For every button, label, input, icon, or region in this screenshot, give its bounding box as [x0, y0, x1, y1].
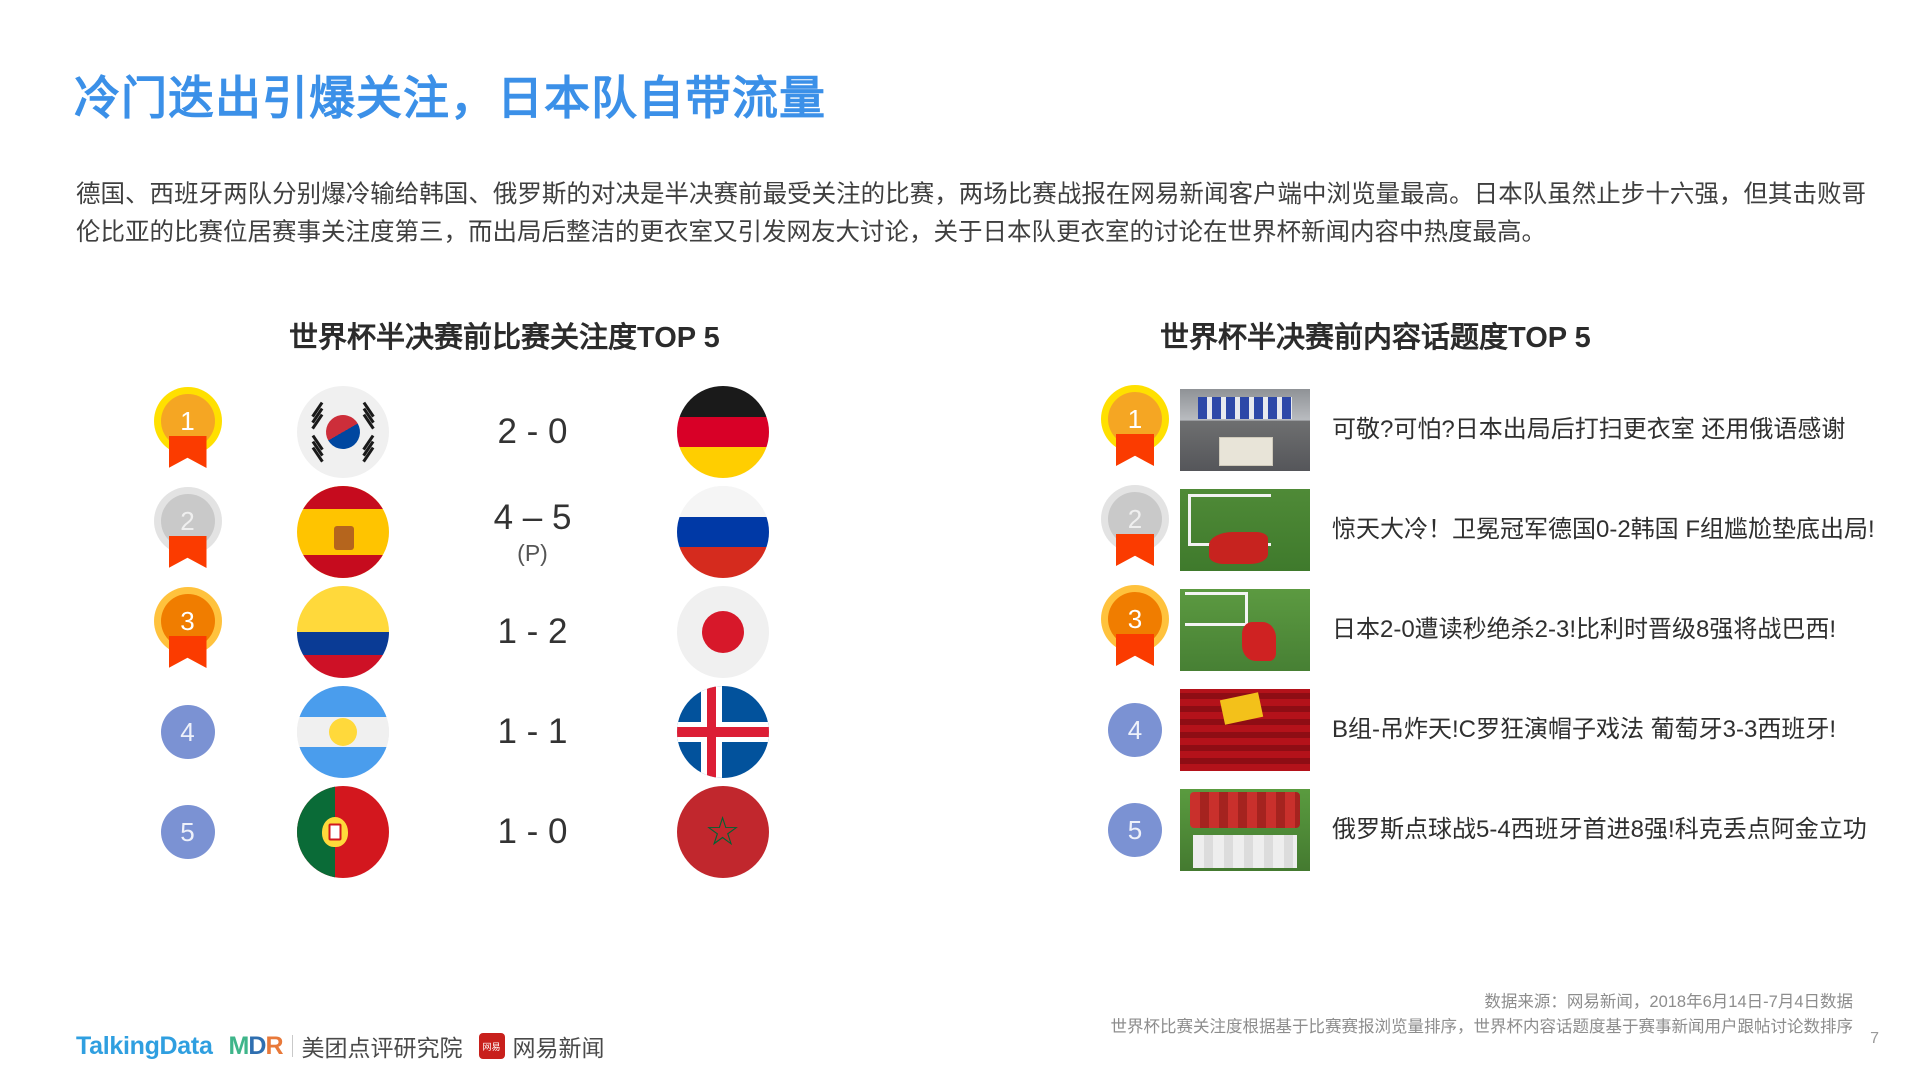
away-team-cell [635, 386, 810, 478]
match-score: 4 – 5(P) [430, 498, 635, 567]
source-line-1: 数据来源：网易新闻，2018年6月14日-7月4日数据 [1111, 990, 1854, 1015]
medal-ribbon-icon [169, 436, 207, 468]
match-rank-cell: 2 [120, 494, 255, 570]
match-row: 41 - 1 [120, 682, 920, 782]
right-column-heading: 世界杯半决赛前内容话题度TOP 5 [1160, 314, 1591, 356]
flag-germany-icon [677, 386, 769, 478]
flag-argentina-icon [297, 686, 389, 778]
slide-canvas: 冷门迭出引爆关注，日本队自带流量 德国、西班牙两队分别爆冷输给韩国、俄罗斯的对决… [0, 0, 1921, 1080]
news-rank-cell: 3 [1090, 592, 1180, 668]
news-medal-2: 2 [1108, 492, 1162, 568]
medal-ribbon-icon [1116, 534, 1154, 566]
mdr-logo: MDR 美团点评研究院 [229, 1029, 463, 1063]
news-medal-3: 3 [1108, 592, 1162, 668]
page-title: 冷门迭出引爆关注，日本队自带流量 [74, 62, 826, 128]
away-team-cell [635, 586, 810, 678]
home-team-cell [255, 586, 430, 678]
match-row: 51 - 0☆ [120, 782, 920, 882]
news-row[interactable]: 4B组-吊炸天!C罗狂演帽子戏法 葡萄牙3-3西班牙! [1090, 680, 1910, 780]
medal-ribbon-icon [1116, 434, 1154, 466]
netease-logo: 网易 网易新闻 [479, 1029, 605, 1063]
news-rank-4: 4 [1108, 703, 1162, 757]
talkingdata-logo: TalkingData [76, 1032, 213, 1061]
news-row[interactable]: 3日本2-0遭读秒绝杀2-3!比利时晋级8强将战巴西! [1090, 580, 1910, 680]
match-score: 1 - 0 [430, 812, 635, 852]
match-rank-cell: 4 [120, 705, 255, 759]
news-row[interactable]: 1可敬?可怕?日本出局后打扫更衣室 还用俄语感谢 [1090, 380, 1910, 480]
intro-paragraph: 德国、西班牙两队分别爆冷输给韩国、俄罗斯的对决是半决赛前最受关注的比赛，两场比赛… [76, 176, 1866, 252]
match-score: 1 - 2 [430, 612, 635, 652]
match-ranking-list: 12 - 024 – 5(P)31 - 241 - 151 - 0☆ [120, 382, 920, 882]
news-thumbnail [1180, 589, 1310, 671]
news-row[interactable]: 2惊天大冷！卫冕冠军德国0-2韩国 F组尴尬垫底出局! [1090, 480, 1910, 580]
news-rank-cell: 1 [1090, 392, 1180, 468]
away-team-cell [635, 686, 810, 778]
news-thumbnail [1180, 389, 1310, 471]
match-rank-4: 4 [161, 705, 215, 759]
mdr-letter-r: R [265, 1032, 282, 1060]
source-line-2: 世界杯比赛关注度根据基于比赛赛报浏览量排序，世界杯内容话题度基于赛事新闻用户跟帖… [1111, 1015, 1854, 1040]
flag-colombia-icon [297, 586, 389, 678]
netease-icon: 网易 [479, 1033, 505, 1059]
away-team-cell [635, 486, 810, 578]
match-medal-3: 3 [161, 594, 215, 670]
flag-morocco-icon: ☆ [677, 786, 769, 878]
news-thumbnail [1180, 489, 1310, 571]
mdr-letter-d: D [248, 1032, 265, 1060]
home-team-cell [255, 386, 430, 478]
news-title[interactable]: 可敬?可怕?日本出局后打扫更衣室 还用俄语感谢 [1332, 413, 1845, 447]
mdr-letter-m: M [229, 1032, 249, 1060]
match-row: 31 - 2 [120, 582, 920, 682]
away-team-cell: ☆ [635, 786, 810, 878]
match-rank-cell: 1 [120, 394, 255, 470]
match-rank-cell: 3 [120, 594, 255, 670]
news-row[interactable]: 5俄罗斯点球战5-4西班牙首进8强!科克丢点阿金立功 [1090, 780, 1910, 880]
score-note: (P) [430, 540, 635, 566]
news-rank-cell: 5 [1090, 803, 1180, 857]
news-thumbnail [1180, 789, 1310, 871]
news-medal-1: 1 [1108, 392, 1162, 468]
meituan-label: 美团点评研究院 [302, 1029, 463, 1063]
match-medal-2: 2 [161, 494, 215, 570]
news-title[interactable]: B组-吊炸天!C罗狂演帽子戏法 葡萄牙3-3西班牙! [1332, 713, 1836, 747]
match-medal-1: 1 [161, 394, 215, 470]
match-score: 1 - 1 [430, 712, 635, 752]
left-column-heading: 世界杯半决赛前比赛关注度TOP 5 [289, 314, 720, 356]
medal-ribbon-icon [169, 536, 207, 568]
news-rank-5: 5 [1108, 803, 1162, 857]
flag-south-korea-icon [297, 386, 389, 478]
match-rank-cell: 5 [120, 805, 255, 859]
source-note: 数据来源：网易新闻，2018年6月14日-7月4日数据 世界杯比赛关注度根据基于… [1111, 990, 1854, 1040]
home-team-cell [255, 486, 430, 578]
flag-spain-icon [297, 486, 389, 578]
footer-logos: TalkingData MDR 美团点评研究院 网易 网易新闻 [76, 1029, 605, 1063]
netease-label: 网易新闻 [513, 1029, 605, 1063]
match-rank-5: 5 [161, 805, 215, 859]
news-title[interactable]: 俄罗斯点球战5-4西班牙首进8强!科克丢点阿金立功 [1332, 813, 1867, 847]
news-rank-cell: 2 [1090, 492, 1180, 568]
news-title[interactable]: 日本2-0遭读秒绝杀2-3!比利时晋级8强将战巴西! [1332, 613, 1836, 647]
page-number: 7 [1870, 1030, 1879, 1048]
news-ranking-list: 1可敬?可怕?日本出局后打扫更衣室 还用俄语感谢2惊天大冷！卫冕冠军德国0-2韩… [1090, 380, 1910, 880]
medal-ribbon-icon [1116, 634, 1154, 666]
flag-russia-icon [677, 486, 769, 578]
medal-ribbon-icon [169, 636, 207, 668]
flag-iceland-icon [677, 686, 769, 778]
news-thumbnail [1180, 689, 1310, 771]
match-row: 24 – 5(P) [120, 482, 920, 582]
logo-divider [292, 1035, 293, 1057]
news-title[interactable]: 惊天大冷！卫冕冠军德国0-2韩国 F组尴尬垫底出局! [1332, 513, 1875, 547]
flag-portugal-icon [297, 786, 389, 878]
taeguk-icon [319, 409, 365, 455]
mdr-mark-icon: MDR [229, 1032, 283, 1061]
flag-japan-icon [677, 586, 769, 678]
match-row: 12 - 0 [120, 382, 920, 482]
match-score: 2 - 0 [430, 412, 635, 452]
home-team-cell [255, 686, 430, 778]
news-rank-cell: 4 [1090, 703, 1180, 757]
home-team-cell [255, 786, 430, 878]
